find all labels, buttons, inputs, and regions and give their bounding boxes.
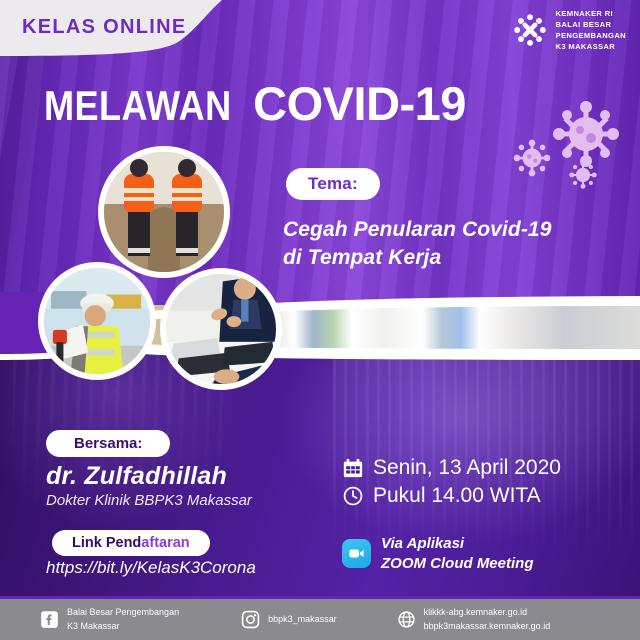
footer-instagram-handle: bbpk3_makassar xyxy=(268,613,337,626)
theme-pill-label: Tema: xyxy=(286,168,380,200)
footer-facebook-line-2: K3 Makassar xyxy=(67,620,179,633)
platform-line-1: Via Aplikasi xyxy=(381,534,533,554)
photo-surveyor xyxy=(38,262,156,380)
photo-meeting xyxy=(160,268,282,390)
speaker-name: dr. Zulfadhillah xyxy=(46,462,227,491)
logo-line-1: KEMNAKER RI xyxy=(556,8,626,19)
poster-headline: MELAWAN COVID-19 xyxy=(44,76,466,131)
schedule-time-row: Pukul 14.00 WITA xyxy=(342,484,541,508)
theme-line-2: di Tempat Kerja xyxy=(283,244,551,272)
footer-facebook-text: Balai Besar Pengembangan K3 Makassar xyxy=(67,606,179,632)
calendar-icon xyxy=(342,457,364,479)
facebook-icon xyxy=(40,610,59,629)
headline-word-melawan: MELAWAN xyxy=(44,82,232,130)
virus-icon-medium xyxy=(512,138,552,178)
instagram-icon xyxy=(241,610,260,629)
registration-url[interactable]: https://bit.ly/KelasK3Corona xyxy=(46,558,256,578)
logo-text-block: KEMNAKER RI BALAI BESAR PENGEMBANGAN K3 … xyxy=(556,8,626,52)
footer-instagram[interactable]: bbpk3_makassar xyxy=(241,610,337,629)
photo-workers-hivis xyxy=(98,146,230,278)
theme-text: Cegah Penularan Covid-19 di Tempat Kerja xyxy=(283,216,551,273)
organization-logo: KEMNAKER RI BALAI BESAR PENGEMBANGAN K3 … xyxy=(511,8,626,52)
poster-root: KELAS ONLINE KEMNAKER RI BALAI BESAR PEN… xyxy=(0,0,640,640)
kemnaker-pinwheel-logo-icon xyxy=(511,11,549,49)
zoom-video-icon xyxy=(342,539,371,568)
headline-word-covid: COVID-19 xyxy=(253,76,466,131)
globe-icon xyxy=(397,610,416,629)
footer-website-line-2: bbpk3makassar.kemnaker.go.id xyxy=(424,620,551,633)
logo-line-4: K3 MAKASSAR xyxy=(556,41,626,52)
footer-website-line-1: klikkk-abg.kemnaker.go.id xyxy=(424,606,551,619)
kelas-online-label: KELAS ONLINE xyxy=(22,16,187,39)
speaker-role: Dokter Klinik BBPK3 Makassar xyxy=(46,492,252,509)
registration-label-part1: Link Pend xyxy=(72,535,141,551)
registration-pill-label: Link Pendaftaran xyxy=(52,530,210,556)
virus-icon-small xyxy=(568,160,598,190)
speaker-pill-label: Bersama: xyxy=(46,430,170,457)
logo-line-3: PENGEMBANGAN xyxy=(556,30,626,41)
schedule-time-text: Pukul 14.00 WITA xyxy=(373,484,541,508)
clock-icon xyxy=(342,485,364,507)
platform-text: Via Aplikasi ZOOM Cloud Meeting xyxy=(381,534,533,573)
registration-label-part2: aftaran xyxy=(141,535,189,551)
footer-facebook-line-1: Balai Besar Pengembangan xyxy=(67,606,179,619)
footer-facebook[interactable]: Balai Besar Pengembangan K3 Makassar xyxy=(40,606,179,632)
platform-line-2: ZOOM Cloud Meeting xyxy=(381,554,533,574)
schedule-date-text: Senin, 13 April 2020 xyxy=(373,456,561,480)
footer-website[interactable]: klikkk-abg.kemnaker.go.id bbpk3makassar.… xyxy=(397,606,551,632)
schedule-date-row: Senin, 13 April 2020 xyxy=(342,456,561,480)
platform-row: Via Aplikasi ZOOM Cloud Meeting xyxy=(342,534,533,573)
footer-bar: Balai Besar Pengembangan K3 Makassar bbp… xyxy=(0,596,640,640)
logo-line-2: BALAI BESAR xyxy=(556,19,626,30)
footer-website-text: klikkk-abg.kemnaker.go.id bbpk3makassar.… xyxy=(424,606,551,632)
theme-line-1: Cegah Penularan Covid-19 xyxy=(283,216,551,244)
